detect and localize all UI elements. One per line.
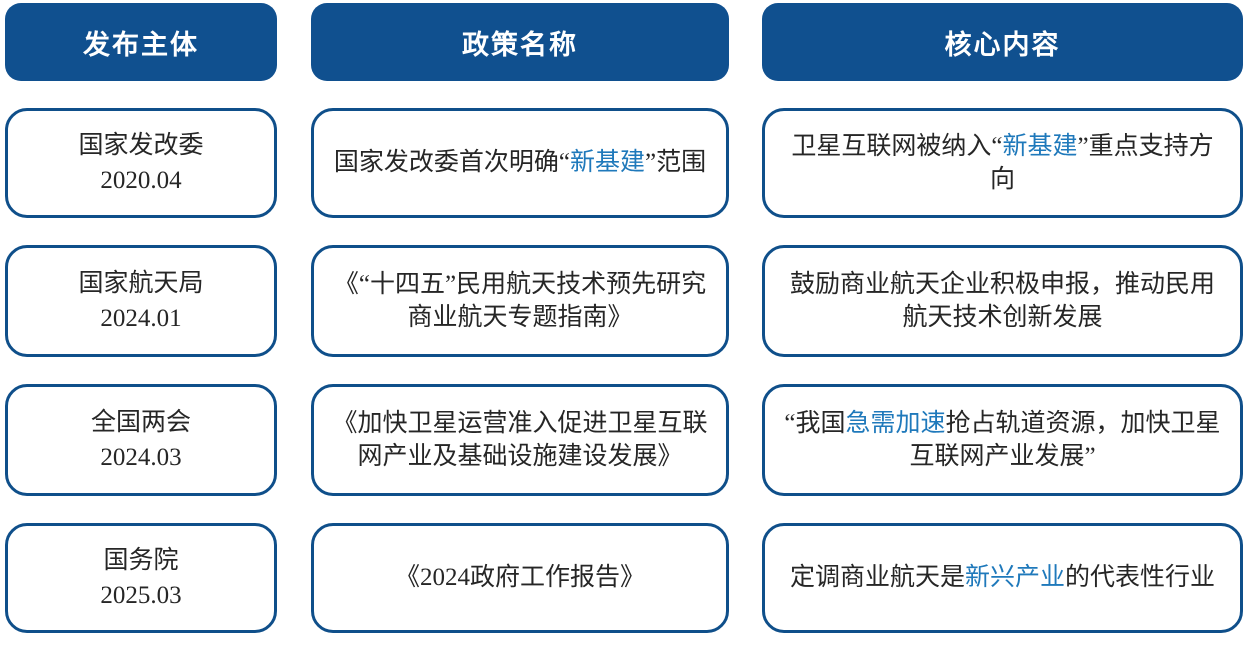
header-label-core-content: 核心内容 <box>945 23 1061 62</box>
policy-name-card[interactable]: 《2024政府工作报告》 <box>311 523 729 633</box>
row-4-core-wrap: 定调商业航天是新兴产业的代表性行业 <box>762 523 1243 633</box>
row-3-issuer-wrap: 全国两会 2024.03 <box>5 384 277 496</box>
policy-name-text: 国家发改委首次明确“新基建”范围 <box>328 146 712 180</box>
row-3-core-wrap: “我国急需加速抢占轨道资源，加快卫星互联网产业发展” <box>762 384 1243 496</box>
header-pill-core-content: 核心内容 <box>762 3 1243 81</box>
row-4-policy-wrap: 《2024政府工作报告》 <box>311 523 729 633</box>
highlighted-term: 新兴产业 <box>965 564 1065 591</box>
issuer-card[interactable]: 国家发改委 2020.04 <box>5 108 277 218</box>
issuer-name: 全国两会 <box>22 405 260 441</box>
plain-term: 《2024政府工作报告》 <box>395 564 645 591</box>
row-4-issuer-wrap: 国务院 2025.03 <box>5 523 277 633</box>
issuer-text: 国务院 2025.03 <box>22 543 260 614</box>
table-row: 国家航天局 2024.01 《“十四五”民用航天技术预先研究商业航天专题指南》 … <box>5 245 1240 357</box>
header-cell-policy-name: 政策名称 <box>311 3 729 81</box>
row-2-issuer-wrap: 国家航天局 2024.01 <box>5 245 277 357</box>
policy-table: 发布主体 政策名称 核心内容 国家发改委 2020.04 国家发 <box>0 0 1245 668</box>
core-content-card[interactable]: “我国急需加速抢占轨道资源，加快卫星互联网产业发展” <box>762 384 1243 496</box>
table-row: 国家发改委 2020.04 国家发改委首次明确“新基建”范围 卫星互联网被纳入“… <box>5 108 1240 218</box>
core-content-card[interactable]: 定调商业航天是新兴产业的代表性行业 <box>762 523 1243 633</box>
header-pill-issuer: 发布主体 <box>5 3 277 81</box>
plain-term: 国家发改委首次明确“ <box>334 149 570 176</box>
issuer-date: 2020.04 <box>22 163 260 199</box>
core-content-card[interactable]: 卫星互联网被纳入“新基建”重点支持方向 <box>762 108 1243 218</box>
table-header-row: 发布主体 政策名称 核心内容 <box>5 3 1240 81</box>
row-2-core-wrap: 鼓励商业航天企业积极申报，推动民用航天技术创新发展 <box>762 245 1243 357</box>
issuer-name: 国家航天局 <box>22 266 260 302</box>
row-1-issuer-wrap: 国家发改委 2020.04 <box>5 108 277 218</box>
issuer-date: 2024.01 <box>22 301 260 337</box>
plain-term: 《“十四五”民用航天技术预先研究商业航天专题指南》 <box>334 271 706 332</box>
issuer-text: 国家发改委 2020.04 <box>22 128 260 199</box>
row-2-policy-wrap: 《“十四五”民用航天技术预先研究商业航天专题指南》 <box>311 245 729 357</box>
row-3-policy-wrap: 《加快卫星运营准入促进卫星互联网产业及基础设施建设发展》 <box>311 384 729 496</box>
issuer-text: 全国两会 2024.03 <box>22 405 260 476</box>
table-row: 全国两会 2024.03 《加快卫星运营准入促进卫星互联网产业及基础设施建设发展… <box>5 384 1240 496</box>
plain-term: 鼓励商业航天企业积极申报，推动民用航天技术创新发展 <box>790 271 1215 332</box>
core-content-text: 卫星互联网被纳入“新基建”重点支持方向 <box>779 130 1226 197</box>
core-content-text: 定调商业航天是新兴产业的代表性行业 <box>779 561 1226 595</box>
policy-name-text: 《“十四五”民用航天技术预先研究商业航天专题指南》 <box>328 268 712 335</box>
plain-term: 的代表性行业 <box>1065 564 1215 591</box>
issuer-name: 国务院 <box>22 543 260 579</box>
plain-term: “我国 <box>784 410 845 437</box>
highlighted-term: 新基建 <box>570 149 645 176</box>
header-label-policy-name: 政策名称 <box>462 23 578 62</box>
issuer-card[interactable]: 国务院 2025.03 <box>5 523 277 633</box>
core-content-text: 鼓励商业航天企业积极申报，推动民用航天技术创新发展 <box>779 268 1226 335</box>
issuer-date: 2025.03 <box>22 578 260 614</box>
policy-name-text: 《2024政府工作报告》 <box>328 561 712 595</box>
issuer-card[interactable]: 国家航天局 2024.01 <box>5 245 277 357</box>
plain-term: 卫星互联网被纳入“ <box>791 133 1002 160</box>
policy-name-text: 《加快卫星运营准入促进卫星互联网产业及基础设施建设发展》 <box>328 407 712 474</box>
row-1-policy-wrap: 国家发改委首次明确“新基建”范围 <box>311 108 729 218</box>
highlighted-term: 新基建 <box>1002 133 1077 160</box>
header-cell-issuer: 发布主体 <box>5 3 277 81</box>
core-content-text: “我国急需加速抢占轨道资源，加快卫星互联网产业发展” <box>779 407 1226 474</box>
issuer-text: 国家航天局 2024.01 <box>22 266 260 337</box>
table-row: 国务院 2025.03 《2024政府工作报告》 定调商业航天是新兴产业的代表性… <box>5 523 1240 633</box>
policy-name-card[interactable]: 国家发改委首次明确“新基建”范围 <box>311 108 729 218</box>
policy-name-card[interactable]: 《加快卫星运营准入促进卫星互联网产业及基础设施建设发展》 <box>311 384 729 496</box>
header-cell-core-content: 核心内容 <box>762 3 1243 81</box>
issuer-name: 国家发改委 <box>22 128 260 164</box>
plain-term: 抢占轨道资源，加快卫星互联网产业发展” <box>909 410 1220 471</box>
header-label-issuer: 发布主体 <box>83 23 199 62</box>
issuer-date: 2024.03 <box>22 440 260 476</box>
highlighted-term: 急需加速 <box>846 410 946 437</box>
header-pill-policy-name: 政策名称 <box>311 3 729 81</box>
core-content-card[interactable]: 鼓励商业航天企业积极申报，推动民用航天技术创新发展 <box>762 245 1243 357</box>
row-1-core-wrap: 卫星互联网被纳入“新基建”重点支持方向 <box>762 108 1243 218</box>
plain-term: 《加快卫星运营准入促进卫星互联网产业及基础设施建设发展》 <box>332 410 707 471</box>
issuer-card[interactable]: 全国两会 2024.03 <box>5 384 277 496</box>
plain-term: 定调商业航天是 <box>790 564 965 591</box>
policy-name-card[interactable]: 《“十四五”民用航天技术预先研究商业航天专题指南》 <box>311 245 729 357</box>
plain-term: ”范围 <box>645 149 706 176</box>
